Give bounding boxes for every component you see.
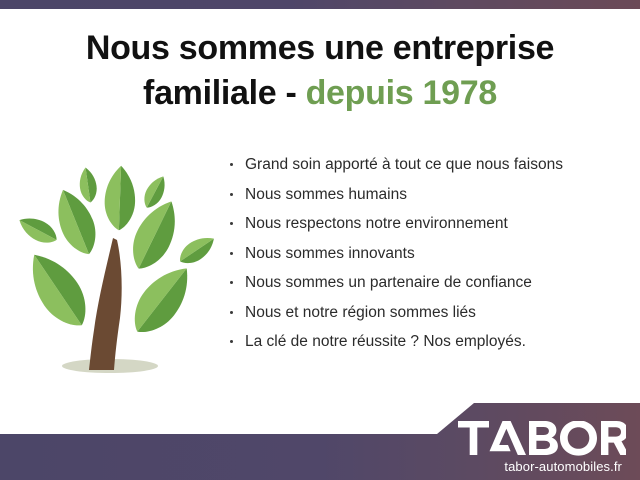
list-item-label: Nous sommes innovants bbox=[245, 246, 415, 262]
headline-plain: familiale - bbox=[143, 74, 297, 112]
bullet-dot-icon bbox=[230, 222, 233, 225]
bullet-dot-icon bbox=[230, 340, 233, 343]
list-item-label: La clé de notre réussite ? Nos employés. bbox=[245, 334, 526, 350]
bullet-dot-icon bbox=[230, 193, 233, 196]
headline-line-1: Nous sommes une entreprise bbox=[0, 26, 640, 71]
slide-canvas: Nous sommes une entreprise familiale -de… bbox=[0, 0, 640, 480]
bullet-dot-icon bbox=[230, 281, 233, 284]
top-accent-bar bbox=[0, 0, 640, 9]
page-title: Nous sommes une entreprise familiale -de… bbox=[0, 26, 640, 116]
bullet-dot-icon bbox=[230, 252, 233, 255]
brand-url: tabor-automobiles.fr bbox=[441, 459, 626, 474]
tabor-wordmark-icon bbox=[458, 421, 626, 457]
list-item: Nous sommes humains bbox=[228, 180, 628, 210]
tree-svg bbox=[10, 150, 220, 385]
list-item: Nous et notre région sommes liés bbox=[228, 298, 628, 328]
headline-accent: depuis 1978 bbox=[306, 74, 497, 112]
list-item-label: Nous respectons notre environnement bbox=[245, 216, 508, 232]
brand-logo[interactable]: tabor-automobiles.fr bbox=[441, 421, 626, 474]
tree-trunk bbox=[89, 238, 122, 370]
list-item: Nous sommes innovants bbox=[228, 239, 628, 269]
list-item: Nous sommes un partenaire de confiance bbox=[228, 268, 628, 298]
list-item-label: Nous et notre région sommes liés bbox=[245, 305, 476, 321]
list-item-label: Nous sommes un partenaire de confiance bbox=[245, 275, 532, 291]
headline-line-2: familiale -depuis 1978 bbox=[0, 71, 640, 116]
list-item: La clé de notre réussite ? Nos employés. bbox=[228, 327, 628, 357]
list-item: Nous respectons notre environnement bbox=[228, 209, 628, 239]
list-item-label: Nous sommes humains bbox=[245, 187, 407, 203]
bullet-dot-icon bbox=[230, 311, 233, 314]
value-proposition-list: Grand soin apporté à tout ce que nous fa… bbox=[228, 150, 628, 357]
tree-illustration bbox=[10, 150, 220, 385]
list-item: Grand soin apporté à tout ce que nous fa… bbox=[228, 150, 628, 180]
bullet-dot-icon bbox=[230, 163, 233, 166]
list-item-label: Grand soin apporté à tout ce que nous fa… bbox=[245, 157, 563, 173]
